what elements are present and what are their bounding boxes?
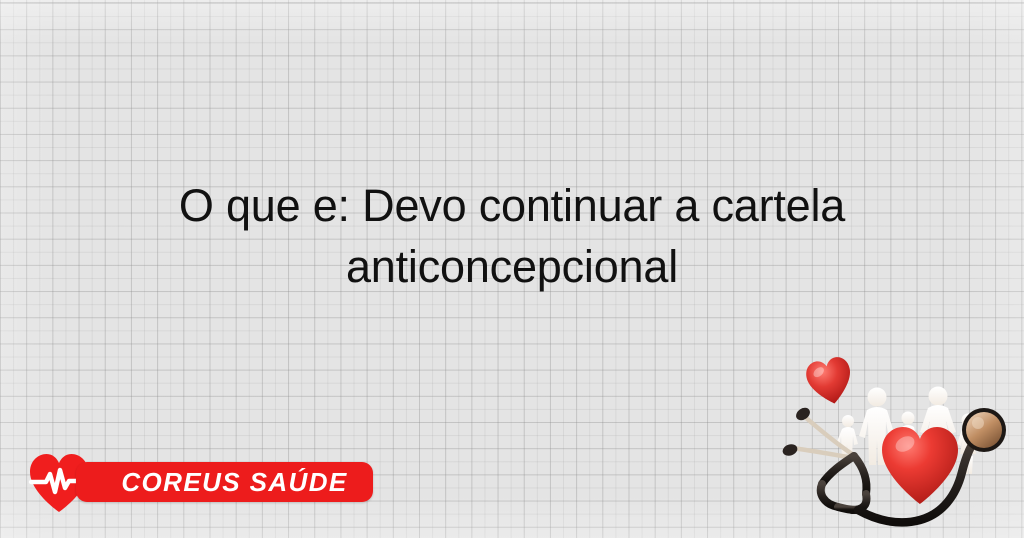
brand-name-text: COREUS SAÚDE (76, 462, 373, 502)
slide-canvas: O que e: Devo continuar a cartela antico… (0, 0, 1024, 538)
top-rule-line (0, 2, 1024, 3)
page-title: O que e: Devo continuar a cartela antico… (0, 175, 1024, 297)
brand-name-badge: COREUS SAÚDE (76, 462, 373, 502)
small-red-heart-icon (772, 344, 1024, 538)
page-title-line-2: anticoncepcional (60, 236, 964, 297)
page-title-line-1: O que e: Devo continuar a cartela (60, 175, 964, 236)
health-family-stethoscope-illustration (772, 344, 1024, 538)
brand-logo[interactable]: COREUS SAÚDE (28, 450, 358, 518)
